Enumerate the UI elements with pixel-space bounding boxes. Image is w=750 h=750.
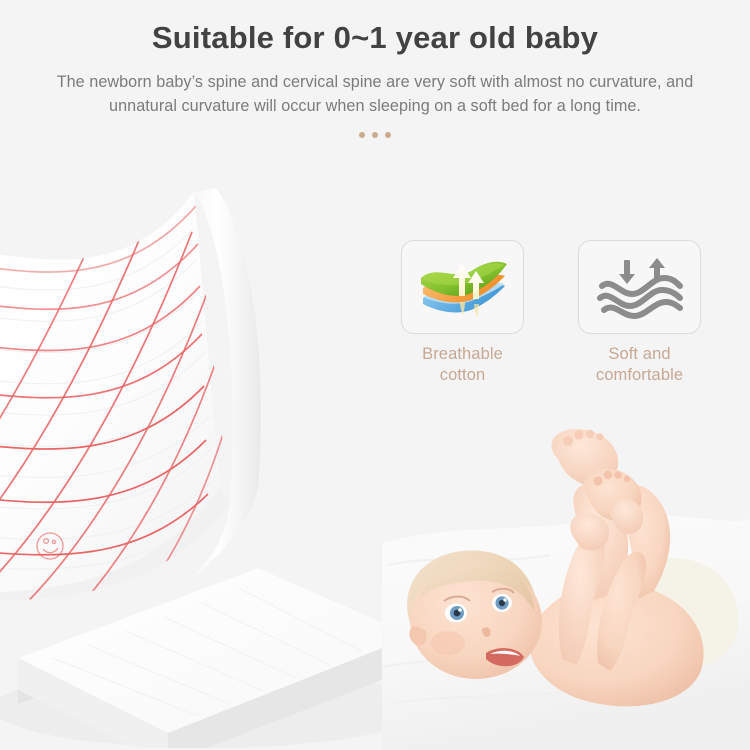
feature-label-line2: cotton (440, 366, 486, 384)
feature-breathable-cotton: Breathable cotton (396, 240, 529, 386)
dot-icon (372, 132, 378, 138)
feature-label-line1: Soft and (608, 345, 670, 363)
product-marketing-page: Suitable for 0~1 year old baby The newbo… (0, 0, 750, 750)
compression-arrow-down-icon (619, 260, 635, 284)
lifestyle-photo-baby (382, 415, 750, 750)
layered-breathable-fabric-icon (415, 252, 511, 322)
baby-photo-illustration (382, 415, 750, 750)
feature-card-breathable (401, 240, 524, 334)
page-subtitle: The newborn baby’s spine and cervical sp… (30, 70, 720, 119)
feature-label-breathable: Breathable cotton (422, 344, 503, 386)
feature-label-line1: Breathable (422, 345, 503, 363)
dot-icon (359, 132, 365, 138)
feature-label-line2: comfortable (596, 366, 683, 384)
three-dots-separator (0, 132, 750, 138)
feature-card-soft (578, 240, 701, 334)
compression-rebound-waves-icon (592, 252, 688, 322)
page-title: Suitable for 0~1 year old baby (0, 20, 750, 56)
header: Suitable for 0~1 year old baby The newbo… (0, 0, 750, 138)
wave-lines (600, 278, 680, 316)
product-image-mattress (0, 188, 428, 748)
feature-list: Breathable cotton (396, 240, 706, 386)
feature-soft-comfortable: Soft and comfortable (573, 240, 706, 386)
mattress-illustration (0, 188, 428, 748)
curved-foam-sheet (0, 188, 261, 650)
feature-label-soft: Soft and comfortable (596, 344, 683, 386)
dot-icon (385, 132, 391, 138)
